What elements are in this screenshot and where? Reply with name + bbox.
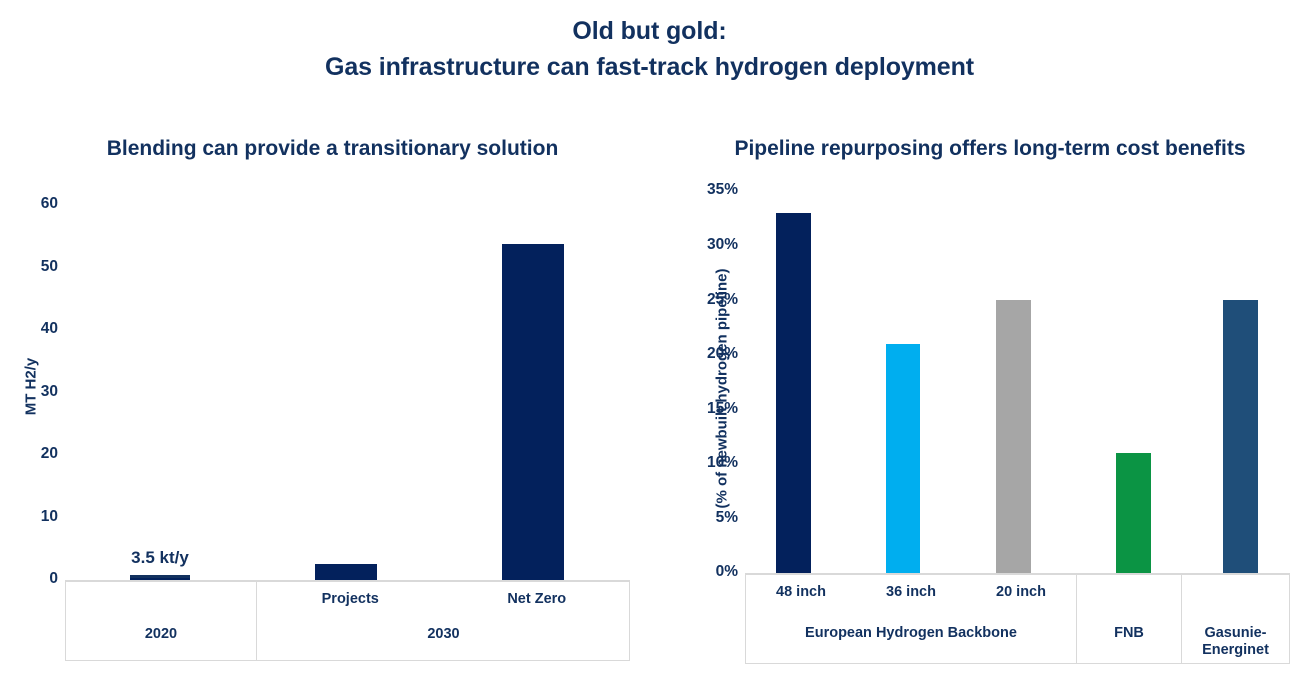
- y-axis-tick-label: 30%: [668, 237, 738, 253]
- x-axis-sub-label: Net Zero: [444, 582, 631, 620]
- y-axis-tick-label: 10: [0, 509, 58, 525]
- x-axis-group-label: 2030: [257, 620, 630, 643]
- x-axis-group-fnb: FNB: [1076, 575, 1181, 663]
- y-axis-tick-label: 30: [0, 384, 58, 400]
- x-axis-subgroup-row: ProjectsNet Zero: [257, 582, 630, 620]
- chart-title-blending: Blending can provide a transitionary sol…: [40, 133, 625, 165]
- chart-panel-repurposing: Pipeline repurposing offers long-term co…: [665, 0, 1299, 699]
- y-axis-tick-label: 0: [0, 571, 58, 587]
- x-axis-group-label: 2020: [66, 620, 256, 643]
- chart-panel-blending: Blending can provide a transitionary sol…: [0, 0, 665, 699]
- x-axis-group-2020: 2020: [66, 582, 256, 660]
- x-axis-sub-label: [1182, 575, 1289, 607]
- bar-net-zero[interactable]: [502, 244, 564, 580]
- y-axis-tick-label: 35%: [668, 182, 738, 198]
- chart-title-repurposing: Pipeline repurposing offers long-term co…: [695, 133, 1285, 165]
- x-axis-group-label: FNB: [1077, 607, 1181, 642]
- annotation-rule-3-5-kty: [130, 575, 190, 578]
- annotation-label-3-5-kty: 3.5 kt/y: [100, 548, 220, 568]
- y-axis-tick-label: 25%: [668, 292, 738, 308]
- x-axis-group-european-hydrogen-backbone: 48 inch36 inch20 inchEuropean Hydrogen B…: [746, 575, 1076, 663]
- x-axis-sub-label: [66, 582, 256, 620]
- y-axis-tick-label: 40: [0, 321, 58, 337]
- bar-fnb[interactable]: [1116, 453, 1151, 573]
- x-axis-category-table-repurposing: 48 inch36 inch20 inchEuropean Hydrogen B…: [745, 574, 1290, 664]
- y-axis-title-repurposing: (% of newbuilt hydrogen pipeline): [714, 239, 731, 539]
- y-axis-tick-label: 20%: [668, 346, 738, 362]
- x-axis-category-table-blending: 2020ProjectsNet Zero2030: [65, 581, 630, 661]
- x-axis-sub-label: [1077, 575, 1181, 607]
- x-axis-subgroup-row: [1077, 575, 1181, 607]
- bar-36-inch[interactable]: [886, 344, 920, 573]
- x-axis-group-2030: ProjectsNet Zero2030: [256, 582, 630, 660]
- x-axis-subgroup-row: 48 inch36 inch20 inch: [746, 575, 1076, 607]
- x-axis-sub-label: Projects: [257, 582, 444, 620]
- plot-area-blending: [65, 200, 630, 580]
- bar-projects[interactable]: [315, 564, 377, 580]
- y-axis-tick-label: 10%: [668, 455, 738, 471]
- y-axis-tick-label: 0%: [668, 564, 738, 580]
- plot-area-repurposing: [745, 191, 1290, 573]
- x-axis-group-label: European Hydrogen Backbone: [746, 607, 1076, 642]
- y-axis-tick-label: 50: [0, 259, 58, 275]
- bar-48-inch[interactable]: [776, 213, 811, 573]
- y-axis-tick-label: 15%: [668, 401, 738, 417]
- x-axis-sub-label: 36 inch: [856, 575, 966, 607]
- y-axis-tick-label: 5%: [668, 510, 738, 526]
- x-axis-sub-label: 20 inch: [966, 575, 1076, 607]
- x-axis-subgroup-row: [66, 582, 256, 620]
- x-axis-subgroup-row: [1182, 575, 1289, 607]
- y-axis-tick-label: 20: [0, 446, 58, 462]
- x-axis-group-label: Gasunie-Energinet: [1182, 607, 1289, 659]
- y-axis-tick-label: 60: [0, 196, 58, 212]
- x-axis-sub-label: 48 inch: [746, 575, 856, 607]
- bar-gasunie-energinet[interactable]: [1223, 300, 1258, 573]
- bar-20-inch[interactable]: [996, 300, 1031, 573]
- x-axis-group-gasunie-energinet: Gasunie-Energinet: [1181, 575, 1289, 663]
